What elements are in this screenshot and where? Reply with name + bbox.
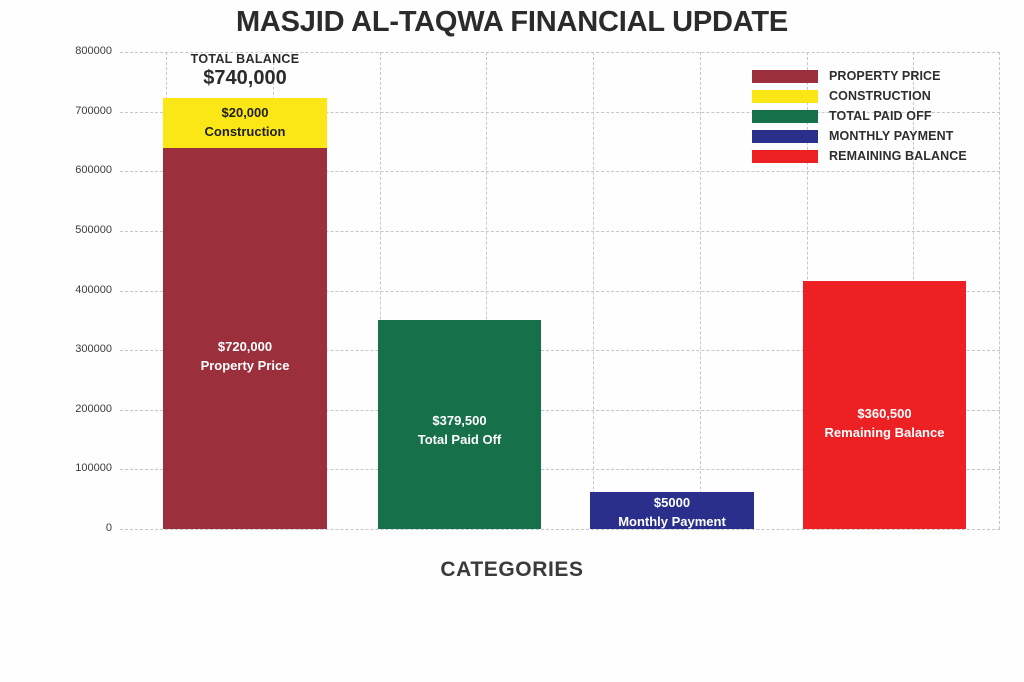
bar-segment-property-price[interactable]: $720,000Property Price <box>163 148 327 529</box>
total-balance-caption: TOTAL BALANCE <box>163 52 327 66</box>
y-tick-label: 800000 <box>34 45 112 57</box>
y-axis-tick-labels: 8000007000006000005000004000003000002000… <box>26 52 112 529</box>
y-tick-label: 100000 <box>34 462 112 474</box>
y-tick-label: 300000 <box>34 343 112 355</box>
y-tick-label: 600000 <box>34 164 112 176</box>
y-tick-label: 500000 <box>34 224 112 236</box>
legend-label: CONSTRUCTION <box>829 89 931 103</box>
bar-label-category: Total Paid Off <box>378 431 541 450</box>
bar-label-amount: $360,500 <box>803 405 966 424</box>
bar-label-amount: $720,000 <box>163 338 327 357</box>
legend-color-swatch <box>752 90 818 103</box>
bar-value-label: $379,500Total Paid Off <box>378 412 541 450</box>
bar-segment-remaining-balance[interactable]: $360,500Remaining Balance <box>803 281 966 529</box>
bar-label-amount: $379,500 <box>378 412 541 431</box>
chart-title: MASJID AL-TAQWA FINANCIAL UPDATE <box>0 6 1024 39</box>
legend-color-swatch <box>752 70 818 83</box>
bar-segment-construction[interactable]: $20,000Construction <box>163 98 327 148</box>
bar-value-label: $720,000Property Price <box>163 338 327 376</box>
y-tick-label: 200000 <box>34 403 112 415</box>
bar-value-label: $360,500Remaining Balance <box>803 405 966 443</box>
legend-label: TOTAL PAID OFF <box>829 109 932 123</box>
y-tick-label: 400000 <box>34 284 112 296</box>
financial-update-chart: MASJID AL-TAQWA FINANCIAL UPDATE AMOUNT … <box>0 0 1024 682</box>
y-tick-label: 0 <box>34 522 112 534</box>
bar-label-amount: $20,000 <box>163 104 327 123</box>
legend-color-swatch <box>752 130 818 143</box>
bar-value-label: $20,000Construction <box>163 104 327 142</box>
bar-segment-monthly-payment[interactable]: $5000Monthly Payment <box>590 492 754 529</box>
bar-label-category: Construction <box>163 123 327 142</box>
total-balance-value: $740,000 <box>163 67 327 90</box>
legend-label: REMAINING BALANCE <box>829 149 967 163</box>
y-tick-label: 700000 <box>34 105 112 117</box>
x-axis-title: CATEGORIES <box>0 558 1024 582</box>
gridline-vertical <box>700 52 701 529</box>
bar-value-label: $5000Monthly Payment <box>590 494 754 532</box>
legend-item[interactable]: REMAINING BALANCE <box>752 146 1002 166</box>
bar-label-category: Property Price <box>163 357 327 376</box>
legend-color-swatch <box>752 150 818 163</box>
legend-label: PROPERTY PRICE <box>829 69 941 83</box>
legend-label: MONTHLY PAYMENT <box>829 129 953 143</box>
bar-label-amount: $5000 <box>590 494 754 513</box>
legend-item[interactable]: TOTAL PAID OFF <box>752 106 1002 126</box>
bar-segment-total-paid-off[interactable]: $379,500Total Paid Off <box>378 320 541 529</box>
gridline-vertical <box>593 52 594 529</box>
gridline-horizontal <box>120 529 1000 530</box>
total-balance-annotation: TOTAL BALANCE$740,000 <box>163 52 327 90</box>
bar-label-category: Remaining Balance <box>803 424 966 443</box>
bar-label-category: Monthly Payment <box>590 513 754 532</box>
legend-item[interactable]: MONTHLY PAYMENT <box>752 126 1002 146</box>
legend-color-swatch <box>752 110 818 123</box>
chart-legend: PROPERTY PRICECONSTRUCTIONTOTAL PAID OFF… <box>752 66 1002 166</box>
legend-item[interactable]: CONSTRUCTION <box>752 86 1002 106</box>
legend-item[interactable]: PROPERTY PRICE <box>752 66 1002 86</box>
